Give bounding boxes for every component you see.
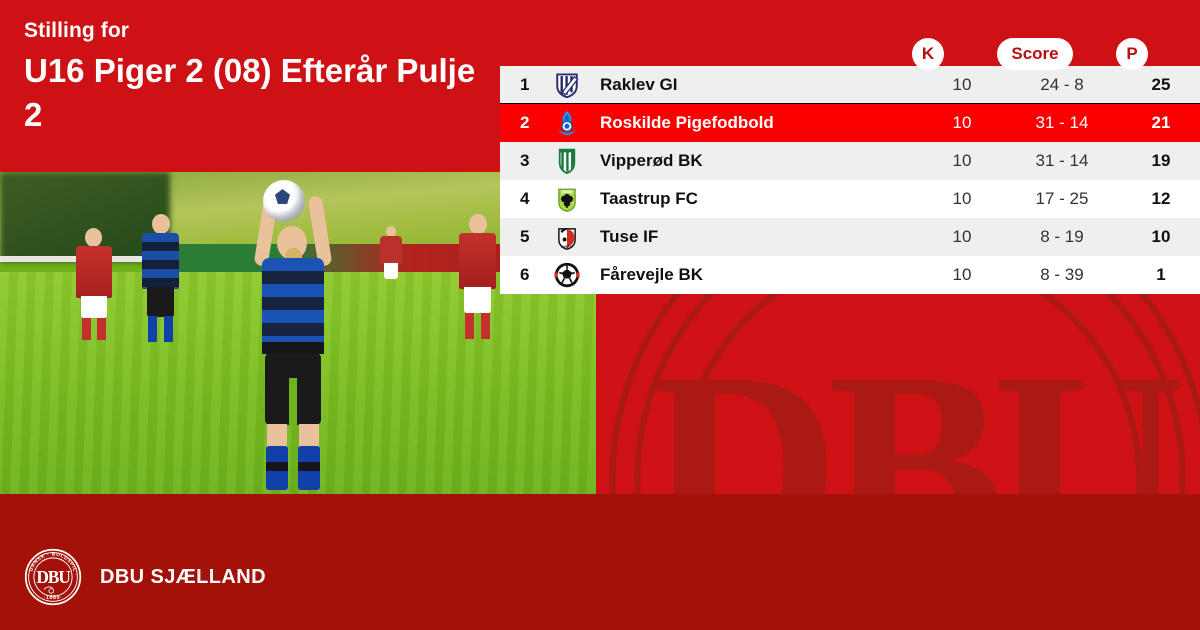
column-header-points: P xyxy=(1116,38,1148,70)
row-score: 17 - 25 xyxy=(1002,189,1122,209)
header-kicker: Stilling for xyxy=(24,18,494,43)
dbu-logo-icon: DANSK · BOLDSPIL · UNION DBU ·1889· xyxy=(24,548,82,606)
svg-text:DBU: DBU xyxy=(36,567,71,587)
standings-table: 1 Raklev GI 10 24 - 8 25 2 xyxy=(500,66,1200,294)
row-position: 4 xyxy=(500,189,548,209)
row-team-name: Tuse IF xyxy=(586,227,922,247)
row-position: 1 xyxy=(500,75,548,95)
row-points: 1 xyxy=(1122,265,1200,285)
photo-player-thrower xyxy=(243,178,343,494)
row-points: 19 xyxy=(1122,151,1200,171)
row-points: 21 xyxy=(1122,113,1200,133)
header: Stilling for U16 Piger 2 (08) Efterår Pu… xyxy=(24,18,494,136)
footer: DANSK · BOLDSPIL · UNION DBU ·1889· DBU … xyxy=(24,548,266,606)
row-points: 25 xyxy=(1122,75,1200,95)
vipperod-bk-crest xyxy=(548,148,586,174)
roskilde-pigefodbold-crest xyxy=(548,110,586,136)
row-position: 5 xyxy=(500,227,548,247)
svg-text:·1889·: ·1889· xyxy=(44,595,63,601)
row-points: 12 xyxy=(1122,189,1200,209)
row-position: 2 xyxy=(500,113,548,133)
row-matches: 10 xyxy=(922,151,1002,171)
photo-player-red-right xyxy=(455,214,499,352)
table-row[interactable]: 6 Fårevejle BK 10 8 - 39 1 xyxy=(500,256,1200,294)
photo-football xyxy=(263,180,305,222)
row-team-name: Fårevejle BK xyxy=(586,265,922,285)
table-row[interactable]: 5 TUSE IF Tuse IF 10 8 - 19 10 xyxy=(500,218,1200,256)
table-row[interactable]: 2 Roskilde Pigefodbold 10 31 - 14 21 xyxy=(500,104,1200,142)
page-title: U16 Piger 2 (08) Efterår Pulje 2 xyxy=(24,49,494,136)
row-matches: 10 xyxy=(922,113,1002,133)
tuse-if-crest: TUSE IF xyxy=(548,224,586,250)
row-score: 31 - 14 xyxy=(1002,151,1122,171)
column-header-matches: K xyxy=(912,38,944,70)
row-team-name: Vipperød BK xyxy=(586,151,922,171)
row-team-name: Taastrup FC xyxy=(586,189,922,209)
column-header-score: Score xyxy=(997,38,1073,70)
photo-player-blue-left xyxy=(138,214,182,350)
row-matches: 10 xyxy=(922,265,1002,285)
raklev-gi-crest xyxy=(548,72,586,98)
row-team-name: Roskilde Pigefodbold xyxy=(586,113,922,133)
row-points: 10 xyxy=(1122,227,1200,247)
row-matches: 10 xyxy=(922,189,1002,209)
standings-table-header: K Score P xyxy=(500,38,1200,70)
svg-text:TUSE IF: TUSE IF xyxy=(561,245,573,249)
row-score: 31 - 14 xyxy=(1002,113,1122,133)
farevejle-bk-crest xyxy=(548,262,586,288)
table-row[interactable]: 3 Vipperød BK 10 31 - 14 19 xyxy=(500,142,1200,180)
row-score: 24 - 8 xyxy=(1002,75,1122,95)
photo-player-red-left xyxy=(72,228,114,348)
row-matches: 10 xyxy=(922,75,1002,95)
row-position: 6 xyxy=(500,265,548,285)
row-matches: 10 xyxy=(922,227,1002,247)
table-row[interactable]: 4 Taastrup FC 10 17 - 25 12 xyxy=(500,180,1200,218)
row-score: 8 - 39 xyxy=(1002,265,1122,285)
poster-root: DBU Stilling for U16 Piger 2 (08) Efterå… xyxy=(0,0,1200,630)
footer-label: DBU SJÆLLAND xyxy=(100,566,266,589)
row-position: 3 xyxy=(500,151,548,171)
photo-player-far-red xyxy=(378,226,404,288)
taastrup-fc-crest xyxy=(548,186,586,212)
row-score: 8 - 19 xyxy=(1002,227,1122,247)
row-team-name: Raklev GI xyxy=(586,75,922,95)
table-row[interactable]: 1 Raklev GI 10 24 - 8 25 xyxy=(500,66,1200,104)
